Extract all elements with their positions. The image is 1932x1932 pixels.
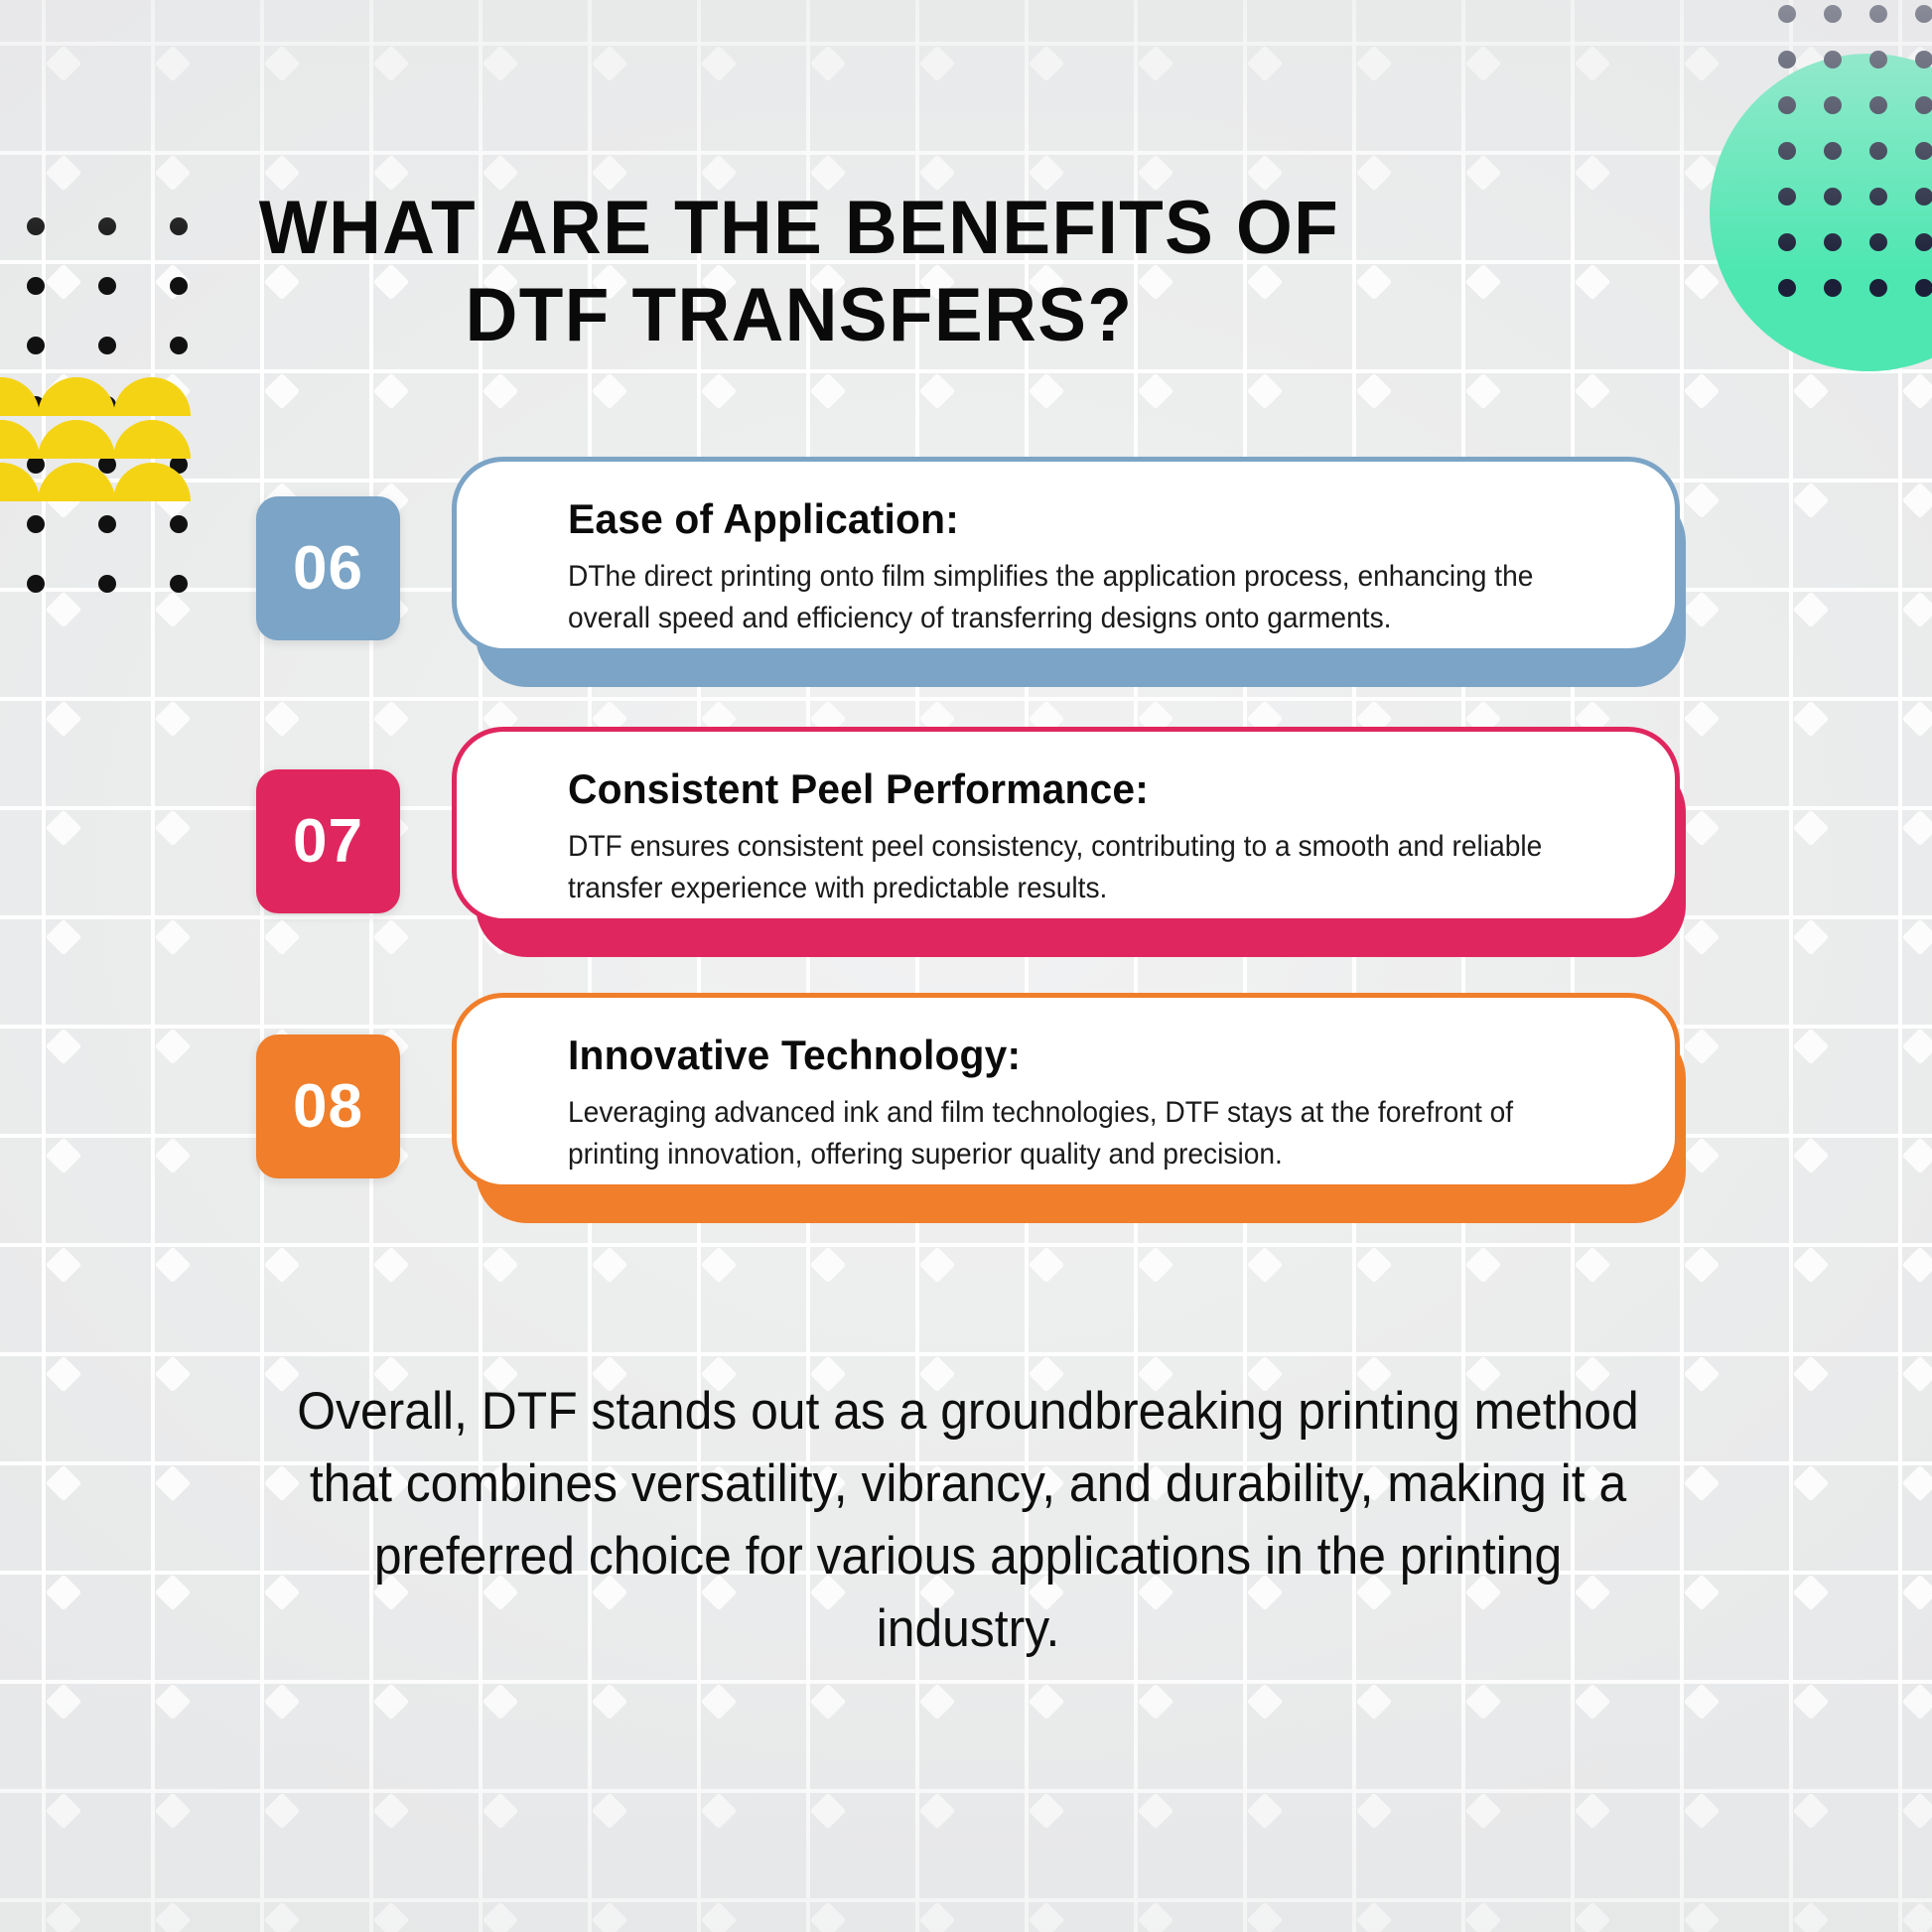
card-number-badge-08: 08 <box>256 1035 400 1178</box>
card-content: Ease of Application:DThe direct printing… <box>568 495 1621 639</box>
summary-paragraph: Overall, DTF stands out as a groundbreak… <box>282 1375 1654 1666</box>
card-title: Innovative Technology: <box>568 1032 1589 1078</box>
card-number-badge-07: 07 <box>256 769 400 913</box>
benefit-card-06[interactable]: Ease of Application:DThe direct printing… <box>452 457 1680 653</box>
card-body-text: DTF ensures consistent peel consistency,… <box>568 826 1574 909</box>
benefit-card-07[interactable]: Consistent Peel Performance:DTF ensures … <box>452 727 1680 923</box>
infographic-canvas: WHAT ARE THE BENEFITS OF DTF TRANSFERS? … <box>0 0 1932 1932</box>
card-number-label: 06 <box>293 533 363 604</box>
card-number-label: 07 <box>293 806 363 877</box>
benefit-card-08[interactable]: Innovative Technology:Leveraging advance… <box>452 993 1680 1189</box>
card-content: Consistent Peel Performance:DTF ensures … <box>568 765 1621 909</box>
card-number-badge-06: 06 <box>256 496 400 640</box>
card-body-text: Leveraging advanced ink and film technol… <box>568 1092 1574 1175</box>
card-number-label: 08 <box>293 1071 363 1142</box>
card-title: Consistent Peel Performance: <box>568 765 1589 812</box>
card-body-text: DThe direct printing onto film simplifie… <box>568 556 1574 639</box>
card-title: Ease of Application: <box>568 495 1589 542</box>
card-content: Innovative Technology:Leveraging advance… <box>568 1032 1621 1175</box>
